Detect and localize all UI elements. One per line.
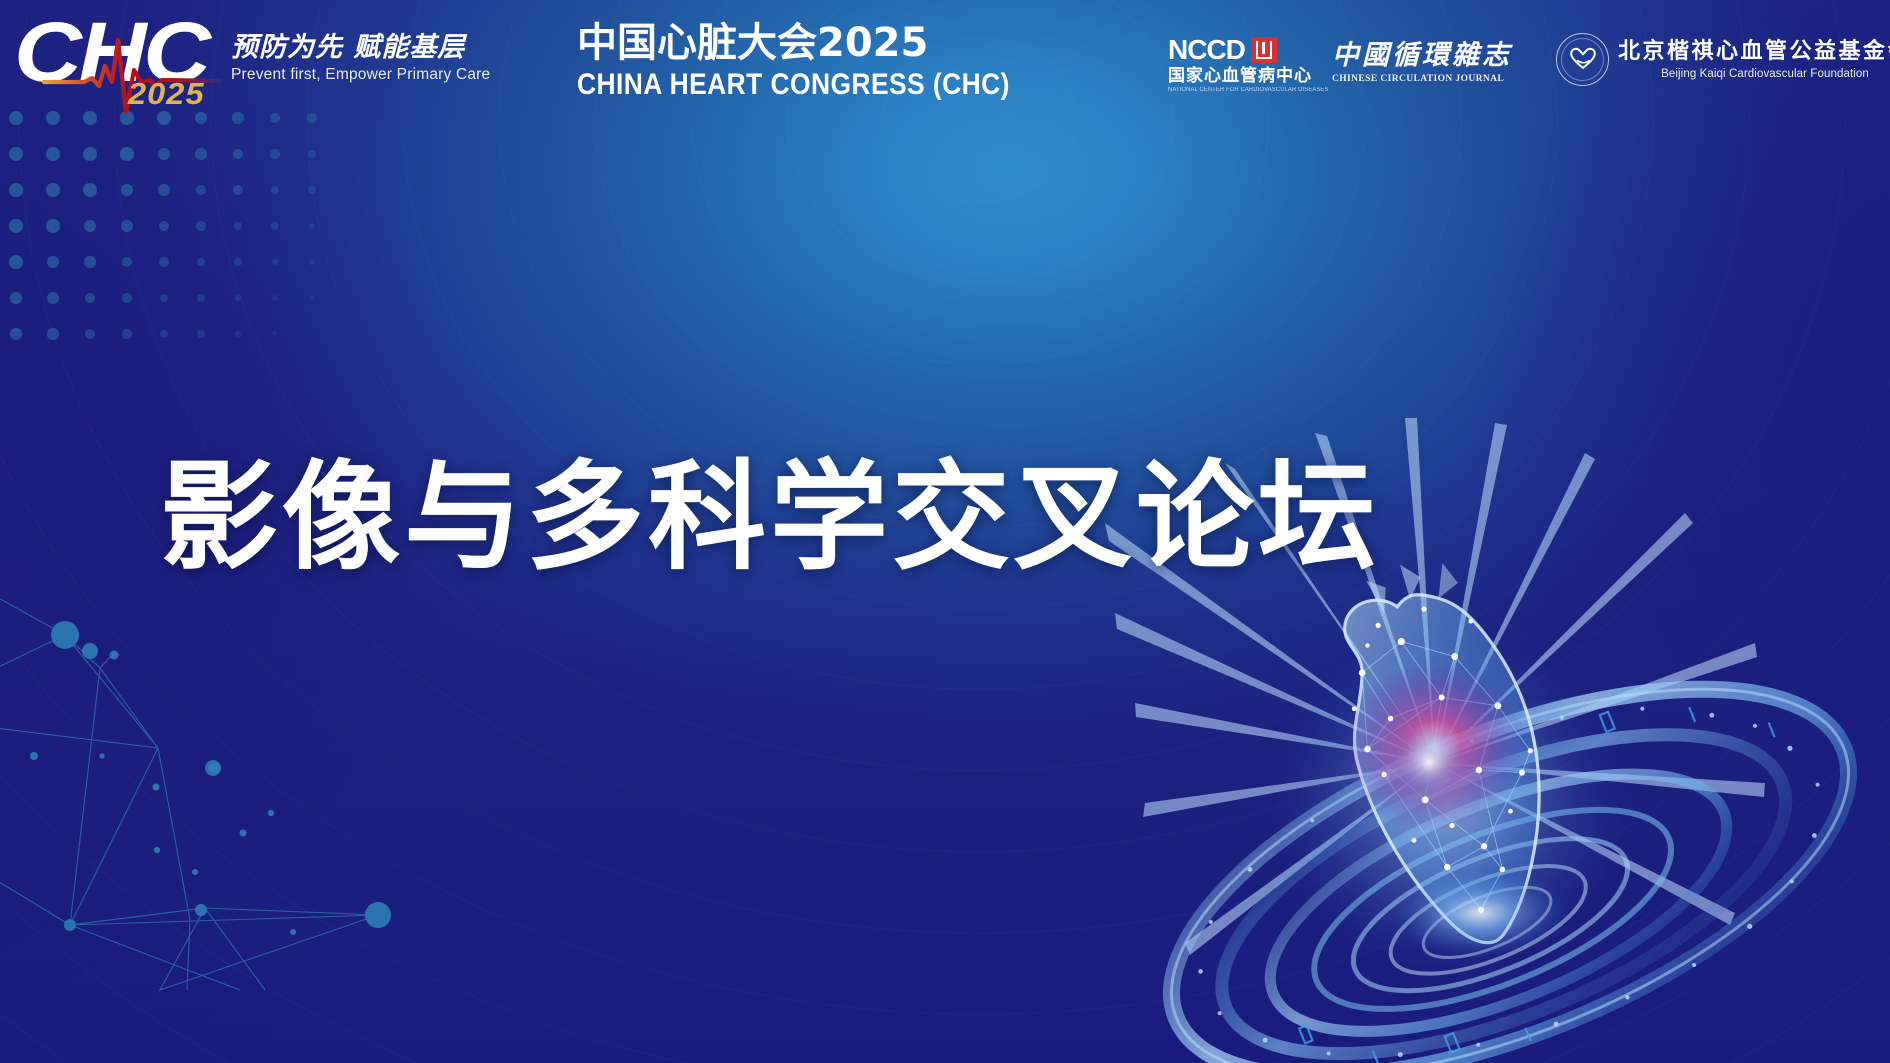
- congress-name-en: CHINA HEART CONGRESS (CHC): [577, 68, 1010, 102]
- heart-glyph-icon: [1569, 46, 1596, 70]
- chinese-circulation-journal-logo: 中國循環雜志 CHINESE CIRCULATION JOURNAL: [1332, 40, 1490, 85]
- conference-banner: CHC 2025 预防为先 赋能基层 Prevent first, Emp: [0, 0, 1890, 1063]
- ccj-name-cn: 中國循環雜志: [1332, 40, 1490, 72]
- kaiqi-name-cn: 北京楷祺心血管公益基金会: [1618, 38, 1890, 65]
- kaiqi-name-en: Beijing Kaiqi Cardiovascular Foundation: [1618, 67, 1890, 81]
- slogan-cn: 预防为先 赋能基层: [231, 32, 446, 64]
- nccd-logo: NCCD 国家心血管病中心 NATIONAL CENTER FOR CARDIO…: [1168, 36, 1330, 94]
- nccd-seal-icon: [1251, 37, 1277, 63]
- congress-name-cn: 中国心脏大会2025: [577, 21, 1069, 65]
- dot-matrix-icon: [0, 112, 400, 412]
- slogan-en: Prevent first, Empower Primary Care: [231, 66, 446, 84]
- polygon-network-icon: [0, 520, 550, 1060]
- nccd-name-cn: 国家心血管病中心: [1168, 66, 1330, 86]
- beijing-kaiqi-foundation-logo: 北京楷祺心血管公益基金会 Beijing Kaiqi Cardiovascula…: [1556, 33, 1890, 86]
- congress-name: 中国心脏大会2025 CHINA HEART CONGRESS (CHC): [577, 21, 1069, 102]
- heart-seal-icon: [1556, 33, 1609, 86]
- conference-slogan: 预防为先 赋能基层 Prevent first, Empower Primary…: [231, 32, 446, 84]
- nccd-name-en: NATIONAL CENTER FOR CARDIOVASCULAR DISEA…: [1168, 86, 1324, 94]
- chc-logo-year: 2025: [128, 78, 205, 109]
- forum-title: 影像与多科学交叉论坛: [0, 455, 1540, 579]
- ccj-name-en: CHINESE CIRCULATION JOURNAL: [1332, 73, 1490, 85]
- banner-header: CHC 2025 预防为先 赋能基层 Prevent first, Emp: [0, 0, 1890, 118]
- nccd-logo-row: NCCD: [1168, 36, 1330, 64]
- nccd-abbr: NCCD: [1168, 36, 1245, 64]
- chc-logo: CHC 2025: [14, 8, 214, 112]
- kaiqi-text-block: 北京楷祺心血管公益基金会 Beijing Kaiqi Cardiovascula…: [1618, 38, 1890, 81]
